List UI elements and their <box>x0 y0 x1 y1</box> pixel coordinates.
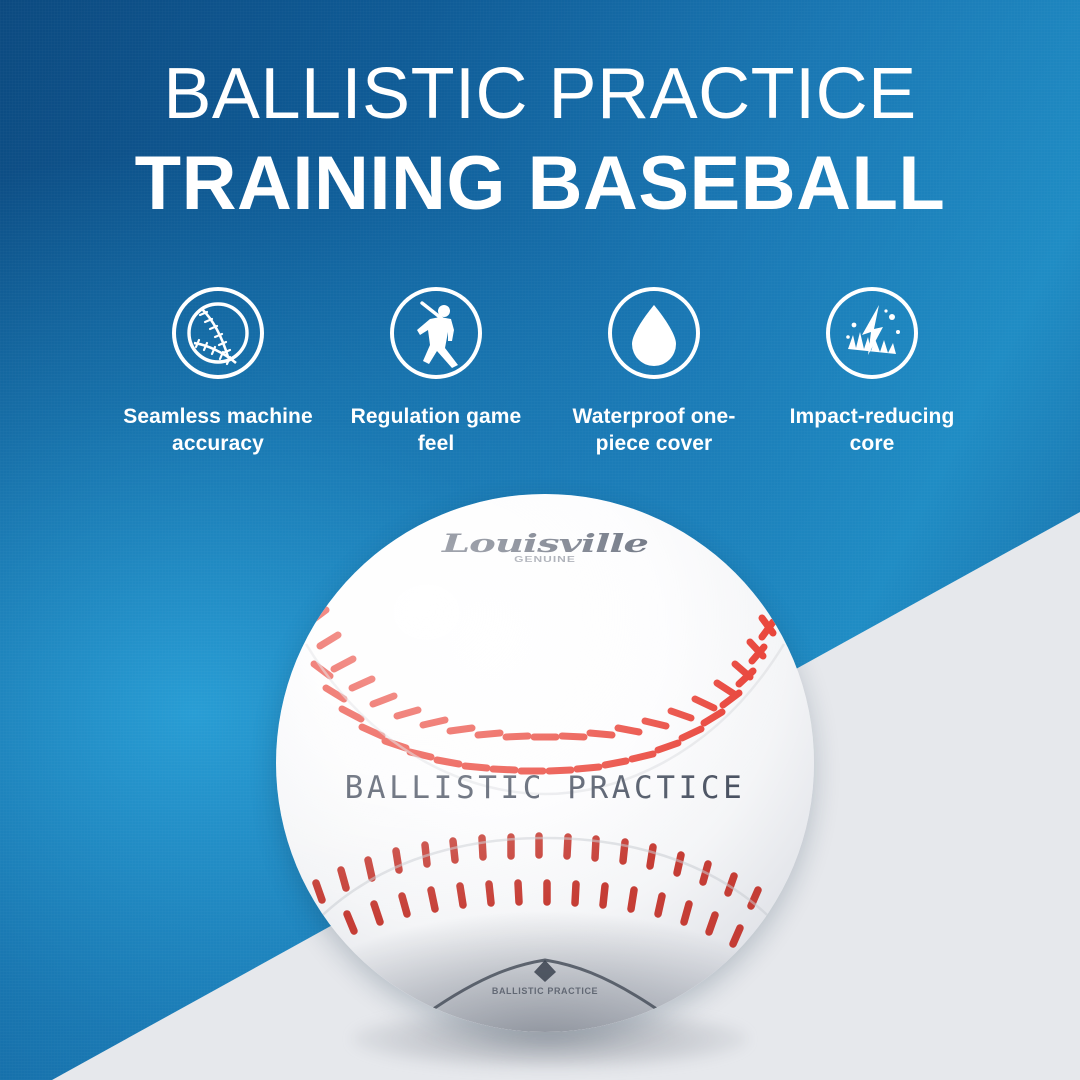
ball-printed-text: BALLISTIC PRACTICE <box>276 770 814 806</box>
ball-bottom-text: BALLISTIC PRACTICE <box>276 986 814 996</box>
feature-item-seamless-machine-accuracy: Seamless machine accuracy <box>120 285 316 458</box>
baseball-product-image: Louisville GENUINE BALLISTIC PRACTICE BA… <box>276 494 814 1032</box>
feature-label: Impact-reducing core <box>774 403 970 458</box>
product-ad-canvas: BALLISTIC PRACTICE TRAINING BASEBALL Sea… <box>0 0 1080 1080</box>
feature-item-waterproof-one-piece-cover: Waterproof one- piece cover <box>556 285 752 458</box>
ball-brand-subtext: GENUINE <box>276 554 814 564</box>
feature-item-regulation-game-feel: Regulation game feel <box>338 285 534 458</box>
impact-burst-icon <box>824 285 920 381</box>
baseball-icon <box>170 285 266 381</box>
baseball-seams <box>276 494 814 1032</box>
feature-label: Regulation game feel <box>338 403 534 458</box>
feature-label: Seamless machine accuracy <box>120 403 316 458</box>
batter-icon <box>388 285 484 381</box>
feature-label: Waterproof one- piece cover <box>556 403 752 458</box>
feature-list: Seamless machine accuracy Regulation gam… <box>120 285 970 458</box>
water-droplet-icon <box>606 285 702 381</box>
headline-line-2: TRAINING BASEBALL <box>0 146 1080 222</box>
headline-block: BALLISTIC PRACTICE TRAINING BASEBALL <box>0 58 1080 222</box>
headline-line-1: BALLISTIC PRACTICE <box>0 58 1080 130</box>
feature-item-impact-reducing-core: Impact-reducing core <box>774 285 970 458</box>
